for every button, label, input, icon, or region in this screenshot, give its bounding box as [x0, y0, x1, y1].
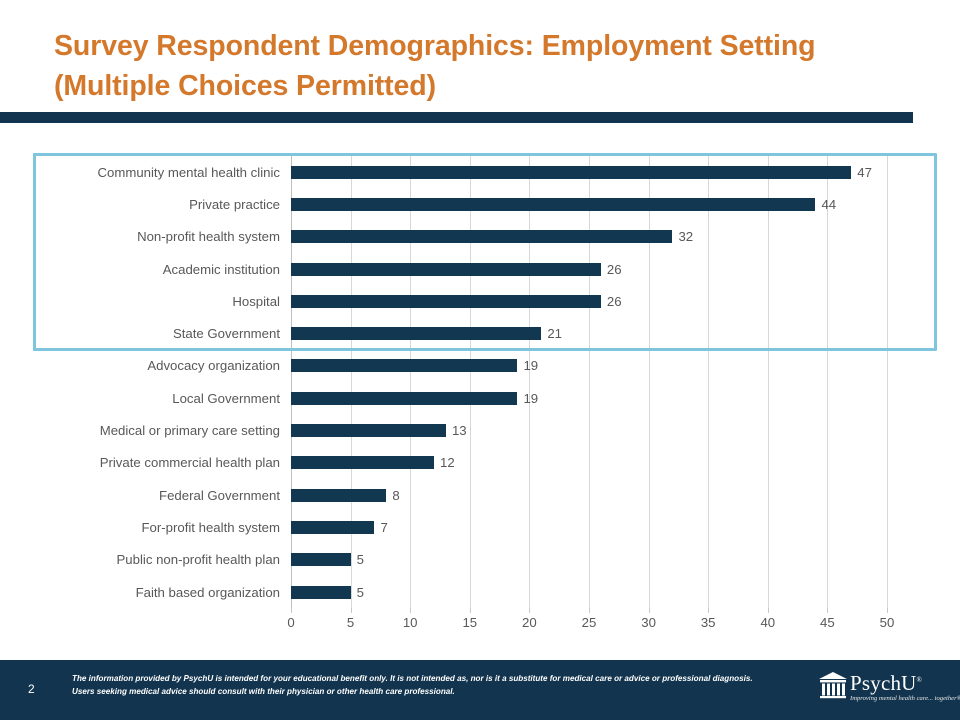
chart-row: Non-profit health system32: [0, 221, 960, 253]
x-tick-label: 50: [880, 615, 895, 630]
chart-row: Hospital26: [0, 285, 960, 317]
bar: [291, 327, 541, 340]
category-label: Public non-profit health plan: [40, 552, 280, 567]
chart-row: State Government21: [0, 318, 960, 350]
logo-registered-mark: ®: [917, 676, 923, 684]
x-tick-mark: [768, 608, 769, 613]
x-tick-mark: [649, 608, 650, 613]
chart-row: Private practice44: [0, 188, 960, 220]
category-label: Faith based organization: [40, 585, 280, 600]
bar-value-label: 7: [380, 520, 387, 535]
bar-with-value: 5: [291, 576, 364, 608]
x-tick-mark: [887, 608, 888, 613]
bar-with-value: 26: [291, 285, 622, 317]
disclaimer-text: The information provided by PsychU is in…: [72, 672, 772, 698]
category-label: Advocacy organization: [40, 358, 280, 373]
bar-value-label: 13: [452, 423, 467, 438]
category-label: Hospital: [40, 294, 280, 309]
footer-bar: 2 The information provided by PsychU is …: [0, 660, 960, 720]
bar-value-label: 26: [607, 262, 622, 277]
bar-with-value: 47: [291, 156, 872, 188]
x-tick-label: 15: [462, 615, 477, 630]
x-tick-mark: [529, 608, 530, 613]
chart-row: For-profit health system7: [0, 511, 960, 543]
bar-with-value: 19: [291, 350, 538, 382]
x-tick-label: 5: [347, 615, 354, 630]
logo-name-text: PsychU: [850, 671, 917, 695]
bar-value-label: 19: [523, 391, 538, 406]
logo-tagline: Improving mental health care... together…: [850, 695, 960, 702]
x-tick-mark: [589, 608, 590, 613]
bar-value-label: 47: [857, 165, 872, 180]
bar-with-value: 44: [291, 188, 836, 220]
x-tick-label: 10: [403, 615, 418, 630]
bar-value-label: 44: [821, 197, 836, 212]
bar-value-label: 5: [357, 552, 364, 567]
x-tick-label: 30: [641, 615, 656, 630]
category-label: Private commercial health plan: [40, 455, 280, 470]
bar-with-value: 32: [291, 221, 693, 253]
bar-value-label: 26: [607, 294, 622, 309]
category-label: Federal Government: [40, 488, 280, 503]
bar-with-value: 13: [291, 414, 467, 446]
bar-value-label: 32: [678, 229, 693, 244]
bar-value-label: 5: [357, 585, 364, 600]
category-label: For-profit health system: [40, 520, 280, 535]
bar-with-value: 5: [291, 544, 364, 576]
bar: [291, 489, 386, 502]
bar: [291, 392, 517, 405]
x-axis: 05101520253035404550: [291, 608, 887, 638]
x-tick-label: 20: [522, 615, 537, 630]
bar-value-label: 21: [547, 326, 562, 341]
category-label: Private practice: [40, 197, 280, 212]
x-tick-mark: [827, 608, 828, 613]
bar: [291, 230, 672, 243]
chart-row: Academic institution26: [0, 253, 960, 285]
bar-with-value: 12: [291, 447, 455, 479]
bar: [291, 586, 351, 599]
temple-columns-icon: [818, 671, 848, 703]
chart-row: Federal Government8: [0, 479, 960, 511]
page-title: Survey Respondent Demographics: Employme…: [54, 26, 884, 107]
chart-row: Faith based organization5: [0, 576, 960, 608]
psychu-logo: PsychU® Improving mental health care... …: [818, 670, 943, 710]
bar: [291, 553, 351, 566]
bar-with-value: 19: [291, 382, 538, 414]
x-tick-label: 0: [287, 615, 294, 630]
chart-row: Local Government19: [0, 382, 960, 414]
x-tick-label: 25: [582, 615, 597, 630]
x-tick-label: 45: [820, 615, 835, 630]
chart-row: Medical or primary care setting13: [0, 414, 960, 446]
chart-row: Public non-profit health plan5: [0, 544, 960, 576]
bar: [291, 263, 601, 276]
bar: [291, 521, 374, 534]
x-tick-mark: [410, 608, 411, 613]
category-label: Medical or primary care setting: [40, 423, 280, 438]
bar-with-value: 21: [291, 318, 562, 350]
logo-wordmark: PsychU®: [850, 670, 960, 694]
bar-with-value: 7: [291, 511, 388, 543]
bar-value-label: 12: [440, 455, 455, 470]
chart-bar-rows: Community mental health clinic47Private …: [0, 140, 960, 592]
x-tick-mark: [470, 608, 471, 613]
bar-value-label: 19: [523, 358, 538, 373]
page-number: 2: [28, 682, 35, 696]
bar-with-value: 8: [291, 479, 400, 511]
category-label: Community mental health clinic: [40, 165, 280, 180]
bar: [291, 424, 446, 437]
x-tick-label: 40: [760, 615, 775, 630]
bar-value-label: 8: [392, 488, 399, 503]
chart-row: Advocacy organization19: [0, 350, 960, 382]
bar: [291, 359, 517, 372]
category-label: Local Government: [40, 391, 280, 406]
x-tick-mark: [351, 608, 352, 613]
x-tick-mark: [708, 608, 709, 613]
bar-with-value: 26: [291, 253, 622, 285]
bar: [291, 456, 434, 469]
x-tick-mark: [291, 608, 292, 613]
category-label: State Government: [40, 326, 280, 341]
bar-chart: Community mental health clinic47Private …: [0, 140, 960, 645]
chart-row: Community mental health clinic47: [0, 156, 960, 188]
category-label: Academic institution: [40, 262, 280, 277]
title-divider-rule: [0, 112, 913, 123]
bar: [291, 166, 851, 179]
category-label: Non-profit health system: [40, 229, 280, 244]
x-tick-label: 35: [701, 615, 716, 630]
bar: [291, 295, 601, 308]
bar: [291, 198, 815, 211]
chart-row: Private commercial health plan12: [0, 447, 960, 479]
